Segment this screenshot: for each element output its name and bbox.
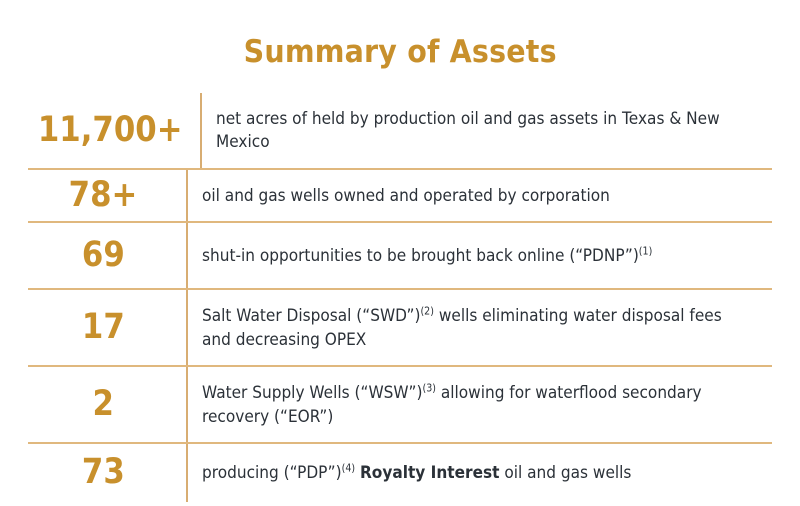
page-title: Summary of Assets [243, 34, 556, 70]
asset-description: Water Supply Wells (“WSW”)(3) allowing f… [202, 381, 732, 428]
table-row: 2 Water Supply Wells (“WSW”)(3) allowing… [28, 365, 772, 442]
summary-of-assets-slide: Summary of Assets 11,700+ net acres of h… [0, 0, 800, 506]
asset-description-cell: net acres of held by production oil and … [202, 93, 772, 168]
asset-description-cell: Salt Water Disposal (“SWD”)(2) wells eli… [188, 290, 772, 365]
asset-metric-value-cell: 11,700+ [28, 93, 200, 168]
asset-metric-value: 17 [82, 310, 125, 345]
asset-description-cell: oil and gas wells owned and operated by … [188, 170, 772, 221]
asset-description: producing (“PDP”)(4) Royalty Interest oi… [202, 461, 732, 484]
asset-metric-value: 73 [82, 455, 125, 490]
asset-description: Salt Water Disposal (“SWD”)(2) wells eli… [202, 304, 732, 351]
asset-metric-value: 2 [92, 387, 113, 422]
table-row: 11,700+ net acres of held by production … [28, 93, 772, 168]
asset-description-cell: Water Supply Wells (“WSW”)(3) allowing f… [188, 367, 772, 442]
asset-metric-value: 11,700+ [38, 113, 183, 148]
asset-metric-value-cell: 73 [28, 444, 186, 502]
asset-description: shut-in opportunities to be brought back… [202, 244, 732, 267]
asset-metric-value-cell: 17 [28, 290, 186, 365]
assets-table: 11,700+ net acres of held by production … [28, 93, 772, 502]
asset-metric-value-cell: 2 [28, 367, 186, 442]
asset-description-cell: shut-in opportunities to be brought back… [188, 223, 772, 288]
asset-metric-value: 69 [82, 238, 125, 273]
asset-metric-value-cell: 69 [28, 223, 186, 288]
table-row: 17 Salt Water Disposal (“SWD”)(2) wells … [28, 288, 772, 365]
asset-description: net acres of held by production oil and … [216, 107, 733, 154]
asset-metric-value-cell: 78+ [28, 170, 186, 221]
table-row: 78+ oil and gas wells owned and operated… [28, 168, 772, 221]
table-row: 73 producing (“PDP”)(4) Royalty Interest… [28, 442, 772, 502]
asset-description-cell: producing (“PDP”)(4) Royalty Interest oi… [188, 444, 772, 502]
table-row: 69 shut-in opportunities to be brought b… [28, 221, 772, 288]
asset-metric-value: 78+ [69, 178, 138, 213]
page-title-container: Summary of Assets [0, 34, 800, 70]
asset-description: oil and gas wells owned and operated by … [202, 184, 732, 207]
